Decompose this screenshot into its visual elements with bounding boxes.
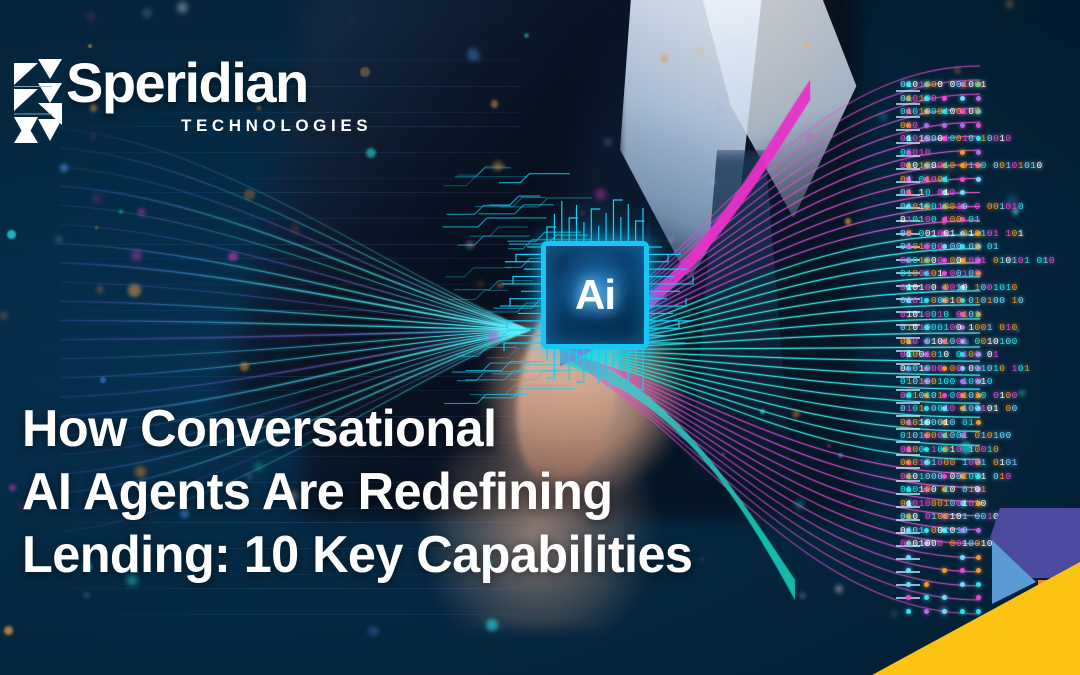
logo-wordmark: Speridian	[66, 54, 308, 112]
binary-row: 01010010 0101	[900, 308, 1080, 322]
speridian-triangles-mark-icon	[12, 57, 64, 149]
binary-row: 0101000 00 00 01	[900, 240, 1080, 254]
binary-row: 010100 0010 1001010	[900, 281, 1080, 295]
binary-row: 010	[900, 119, 1080, 133]
chip-label: Ai	[575, 274, 615, 316]
binary-row: 010100010 0100 00101010	[900, 159, 1080, 173]
binary-row: 01010010010 0 001010	[900, 200, 1080, 214]
binary-row: 01 10 010	[900, 186, 1080, 200]
binary-row: 01 01001	[900, 173, 1080, 187]
binary-row: 0101000100100	[900, 105, 1080, 119]
decorative-corner-shapes	[850, 500, 1080, 675]
binary-row: 0101000 001001	[900, 78, 1080, 92]
brand-logo[interactable]: Speridian TECHNOLOGIES	[10, 52, 370, 157]
blog-banner: Ai 0101000 001001 010100 0101000100100 0…	[0, 0, 1080, 675]
binary-row: 01010	[900, 146, 1080, 160]
binary-row: 01001010 0100 01	[900, 348, 1080, 362]
ai-chip: Ai	[500, 175, 700, 400]
logo-tagline: TECHNOLOGIES	[181, 116, 372, 136]
corner-yellow-shape	[872, 562, 1080, 675]
binary-row: 010 0101001 0010100	[900, 335, 1080, 349]
binary-row: 010100100 10010	[900, 375, 1080, 389]
headline-line-2: AI Agents Are Redefining	[22, 461, 924, 524]
headline-line-3: Lending: 10 Key Capabilities	[22, 524, 924, 587]
binary-row: 0100101 00100	[900, 267, 1080, 281]
binary-row: 0101000 00 001010 101	[900, 362, 1080, 376]
binary-row: 00 001001 010101 101	[900, 227, 1080, 241]
binary-row: 0101 00010 010100 10	[900, 294, 1080, 308]
binary-row: 0101000100 1001 010	[900, 321, 1080, 335]
binary-row: 010100	[900, 92, 1080, 106]
binary-row: 010100 100 01	[900, 213, 1080, 227]
binary-row: 010100010010 10010	[900, 132, 1080, 146]
page-title: How Conversational AI Agents Are Redefin…	[22, 398, 952, 587]
binary-row: 0101000 001001 010101 010	[900, 254, 1080, 268]
headline-line-1: How Conversational	[22, 398, 924, 461]
chip-body: Ai	[541, 241, 649, 349]
